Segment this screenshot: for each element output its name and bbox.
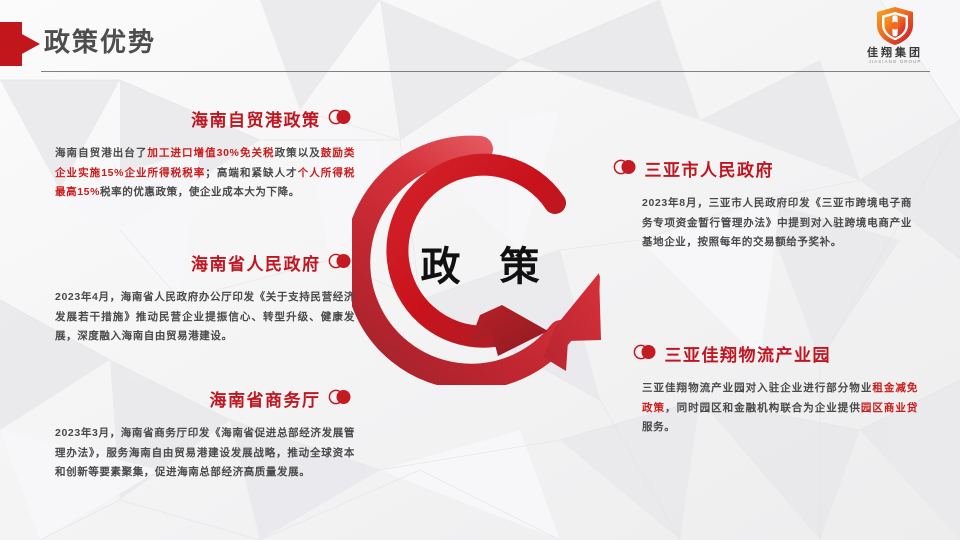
- slide-header: 政策优势: [0, 0, 960, 80]
- plain-text: 三亚佳翔物流产业园对入驻企业进行部分物业: [642, 382, 872, 394]
- card-heading-text: 海南省人民政府: [191, 255, 321, 274]
- card-heading-text: 海南省商务厅: [210, 391, 321, 410]
- logo-name-cn: 佳翔集团: [852, 47, 938, 59]
- two-circles-icon: [612, 158, 638, 184]
- plain-text: 服务。: [642, 421, 675, 433]
- two-circles-icon: [632, 343, 658, 369]
- card-sanya-park: 三亚佳翔物流产业园 三亚佳翔物流产业园对入驻企业进行部分物业租金减免政策，同时园…: [630, 343, 932, 438]
- card-heading: 海南自贸港政策: [55, 108, 355, 134]
- card-heading: 三亚市人民政府: [610, 158, 912, 184]
- highlighted-text: 加工进口增值30%免关税: [147, 147, 274, 159]
- plain-text: ；高端和紧缺人才: [205, 167, 297, 179]
- highlighted-text: 园区商业贷: [861, 402, 918, 414]
- plain-text: 海南自贸港出台了: [55, 147, 147, 159]
- card-hainan-gov: 海南省人民政府 2023年4月，海南省人民政府办公厅印发《关于支持民营经济发展若…: [55, 252, 355, 347]
- shield-logo-icon: [874, 6, 916, 46]
- card-hainan-port: 海南自贸港政策 海南自贸港出台了加工进口增值30%免关税政策以及鼓励类企业实施1…: [55, 108, 355, 203]
- card-body: 2023年3月，海南省商务厅印发《海南省促进总部经济发展管理办法》，服务海南自由…: [55, 424, 355, 483]
- card-heading: 海南省人民政府: [55, 252, 355, 278]
- plain-text: 2023年3月，海南省商务厅印发《海南省促进总部经济发展管理办法》，服务海南自由…: [55, 427, 355, 478]
- center-label: 政 策: [352, 245, 608, 289]
- page-title: 政策优势: [44, 26, 156, 58]
- two-circles-icon: [327, 252, 353, 278]
- card-heading-text: 三亚市人民政府: [644, 161, 774, 180]
- card-heading: 三亚佳翔物流产业园: [630, 343, 932, 369]
- card-body: 2023年4月，海南省人民政府办公厅印发《关于支持民营经济发展若干措施》推动民营…: [55, 288, 355, 347]
- plain-text: 政策以及: [275, 147, 321, 159]
- slide-root: 政策优势 佳翔集团 JIAXIANG GROUP: [0, 0, 960, 540]
- plain-text: 税率的优惠政策，使企业成本大为下降。: [100, 186, 300, 198]
- header-divider: [41, 71, 930, 72]
- two-circles-icon: [327, 388, 353, 414]
- two-circles-icon: [327, 108, 353, 134]
- card-heading: 海南省商务厅: [55, 388, 355, 414]
- card-body: 海南自贸港出台了加工进口增值30%免关税政策以及鼓励类企业实施15%企业所得税税…: [55, 144, 355, 203]
- logo-name-en: JIAXIANG GROUP: [852, 59, 938, 65]
- plain-text: 2023年4月，海南省人民政府办公厅印发《关于支持民营经济发展若干措施》推动民营…: [55, 291, 355, 342]
- plain-text: ，同时园区和金融机构联合为企业提供: [665, 402, 861, 414]
- company-logo: 佳翔集团 JIAXIANG GROUP: [852, 6, 938, 70]
- card-sanya-gov: 三亚市人民政府 2023年8月，三亚市人民政府印发《三亚市跨境电子商务专项资金暂…: [610, 158, 912, 253]
- card-heading-text: 三亚佳翔物流产业园: [664, 346, 831, 365]
- card-body: 2023年8月，三亚市人民政府印发《三亚市跨境电子商务专项资金暂行管理办法》中提…: [642, 194, 912, 253]
- red-chevron-icon: [0, 22, 40, 66]
- card-heading-text: 海南自贸港政策: [191, 111, 321, 130]
- card-body: 三亚佳翔物流产业园对入驻企业进行部分物业租金减免政策，同时园区和金融机构联合为企…: [642, 379, 918, 438]
- plain-text: 2023年8月，三亚市人民政府印发《三亚市跨境电子商务专项资金暂行管理办法》中提…: [642, 197, 912, 248]
- card-hainan-commerce: 海南省商务厅 2023年3月，海南省商务厅印发《海南省促进总部经济发展管理办法》…: [55, 388, 355, 483]
